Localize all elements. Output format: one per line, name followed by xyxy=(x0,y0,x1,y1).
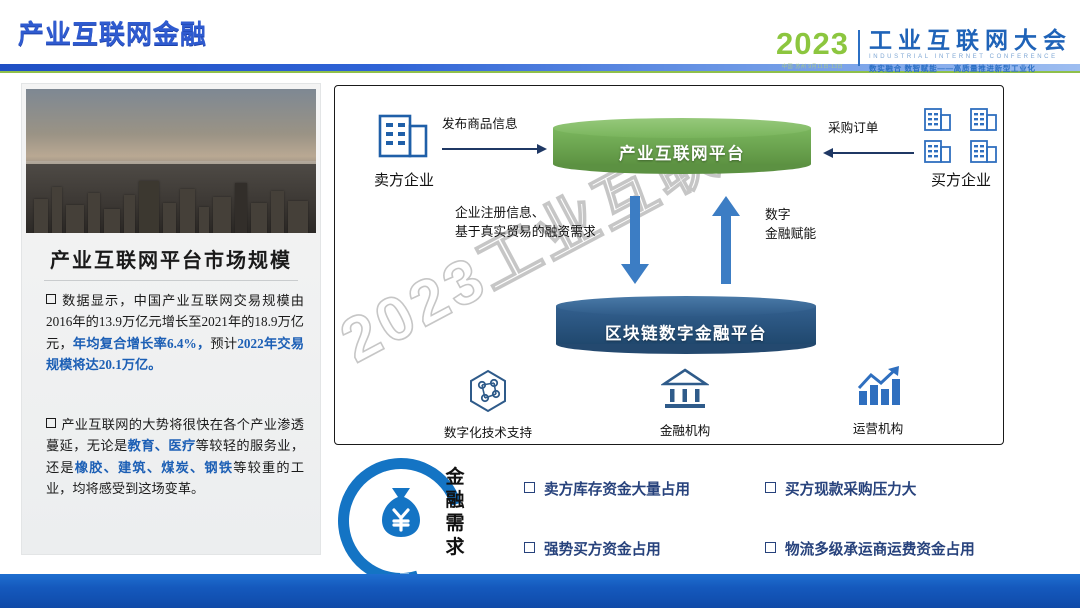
logo-name-cn: 工业互联网大会 xyxy=(869,28,1072,52)
page-title: 产业互联网金融 xyxy=(18,14,207,51)
need-item: 物流多级承运商运费资金占用 xyxy=(765,538,975,559)
conference-logo: 2023 中国·苏州 9月11日-13日 工业互联网大会 INDUSTRIAL … xyxy=(776,28,1072,74)
footer-band xyxy=(0,574,1080,608)
need-item: 买方现款采购压力大 xyxy=(765,478,916,499)
seller-label: 卖方企业 xyxy=(358,169,450,190)
bar-chart-growth-icon xyxy=(854,364,902,410)
seller-node: 卖方企业 xyxy=(358,108,450,190)
building-icon xyxy=(923,137,953,165)
bullet-square-icon xyxy=(524,542,535,553)
flow-out-label: 采购订单 xyxy=(828,117,878,136)
service-caption: 运营机构 xyxy=(818,418,938,437)
need-item-label: 买方现款采购压力大 xyxy=(785,482,916,498)
platform-top-label: 产业互联网平台 xyxy=(553,140,811,164)
slide-root: 产业互联网金融 2023 中国·苏州 9月11日-13日 工业互联网大会 IND… xyxy=(0,0,1080,608)
need-item: 卖方库存资金大量占用 xyxy=(524,478,690,499)
cityscape-photo xyxy=(26,89,316,233)
need-item-label: 卖方库存资金大量占用 xyxy=(544,482,690,498)
industry-internet-platform: 产业互联网平台 xyxy=(553,118,811,174)
bullet-square-icon xyxy=(765,542,776,553)
highlighted-text: 橡胶、建筑、煤炭、钢铁 xyxy=(75,460,233,475)
blockchain-finance-platform: 区块链数字金融平台 xyxy=(556,296,816,354)
finance-demand-section: 金融需求 卖方库存资金大量占用 买方现款采购压力大 强势买方资金占用 物流多级承… xyxy=(310,452,1080,572)
service-financial-institution: 金融机构 xyxy=(625,366,745,439)
buyer-label: 买方企业 xyxy=(918,169,1004,190)
service-caption: 数字化技术支持 xyxy=(428,422,548,441)
building-icon xyxy=(969,137,999,165)
highlighted-text: 年均复合增长率6.4%， xyxy=(73,336,211,351)
logo-year: 2023 xyxy=(776,28,849,59)
arrow-seller-to-platform xyxy=(442,148,538,150)
bank-icon xyxy=(661,366,709,412)
money-bag-yen-icon xyxy=(370,480,432,542)
need-item-label: 物流多级承运商运费资金占用 xyxy=(785,542,975,558)
building-icon xyxy=(374,108,434,160)
logo-place-date: 中国·苏州 9月11日-13日 xyxy=(782,63,843,70)
service-operation-institution: 运营机构 xyxy=(818,364,938,437)
bullet-square-icon xyxy=(524,482,535,493)
photo-sky xyxy=(26,89,316,171)
finance-demand-label: 金融需求 xyxy=(442,466,468,559)
logo-slogan: 数实融合 数智赋能——高质量推进新型工业化 xyxy=(869,63,1072,74)
photo-city xyxy=(26,164,316,233)
logo-name-block: 工业互联网大会 INDUSTRIAL INTERNET CONFERENCE 数… xyxy=(860,28,1072,74)
service-caption: 金融机构 xyxy=(625,420,745,439)
platform-bottom-label: 区块链数字金融平台 xyxy=(556,320,816,344)
buyer-node: 买方企业 xyxy=(918,105,1004,190)
digital-finance-line1: 数字 xyxy=(765,206,816,225)
flow-in-label: 发布商品信息 xyxy=(442,113,518,132)
need-item-label: 强势买方资金占用 xyxy=(544,542,661,558)
network-hex-icon xyxy=(465,368,511,414)
list-item: 产业互联网的大势将很快在各个产业渗透蔓延，无论是教育、医疗等较轻的服务业，还是橡… xyxy=(46,414,304,500)
logo-name-en: INDUSTRIAL INTERNET CONFERENCE xyxy=(869,54,1072,60)
highlighted-text: 教育、医疗 xyxy=(128,438,196,453)
digital-finance-label: 数字 金融赋能 xyxy=(765,206,816,243)
logo-year-block: 2023 中国·苏州 9月11日-13日 xyxy=(776,28,858,70)
building-icon xyxy=(969,105,999,133)
plain-text: 预计 xyxy=(210,336,237,351)
list-item: 数据显示，中国产业互联网交易规模由2016年的13.9万亿元增长至2021年的1… xyxy=(46,290,304,376)
digital-finance-line2: 金融赋能 xyxy=(765,225,816,244)
bullet-text: 产业互联网的大势将很快在各个产业渗透蔓延，无论是教育、医疗等较轻的服务业，还是橡… xyxy=(46,417,304,496)
bullet-square-icon xyxy=(46,418,56,428)
bullet-square-icon xyxy=(46,294,56,304)
arrow-up-to-platform xyxy=(717,196,735,284)
bullet-square-icon xyxy=(765,482,776,493)
arrow-buyer-to-platform xyxy=(832,152,914,154)
buyer-icon-grid xyxy=(918,105,1004,165)
financing-demand-line1: 企业注册信息、 xyxy=(455,204,596,223)
panel-heading-divider xyxy=(44,280,298,281)
building-icon xyxy=(923,105,953,133)
arrow-down-to-blockchain xyxy=(626,196,644,284)
financing-demand-label: 企业注册信息、 基于真实贸易的融资需求 xyxy=(455,204,596,241)
need-item: 强势买方资金占用 xyxy=(524,538,661,559)
service-digital-tech: 数字化技术支持 xyxy=(428,368,548,441)
bullet-text: 数据显示，中国产业互联网交易规模由2016年的13.9万亿元增长至2021年的1… xyxy=(46,293,304,372)
left-info-panel: 产业互联网平台市场规模 数据显示，中国产业互联网交易规模由2016年的13.9万… xyxy=(22,84,320,554)
financing-demand-line2: 基于真实贸易的融资需求 xyxy=(455,223,596,242)
panel-heading: 产业互联网平台市场规模 xyxy=(22,244,320,273)
